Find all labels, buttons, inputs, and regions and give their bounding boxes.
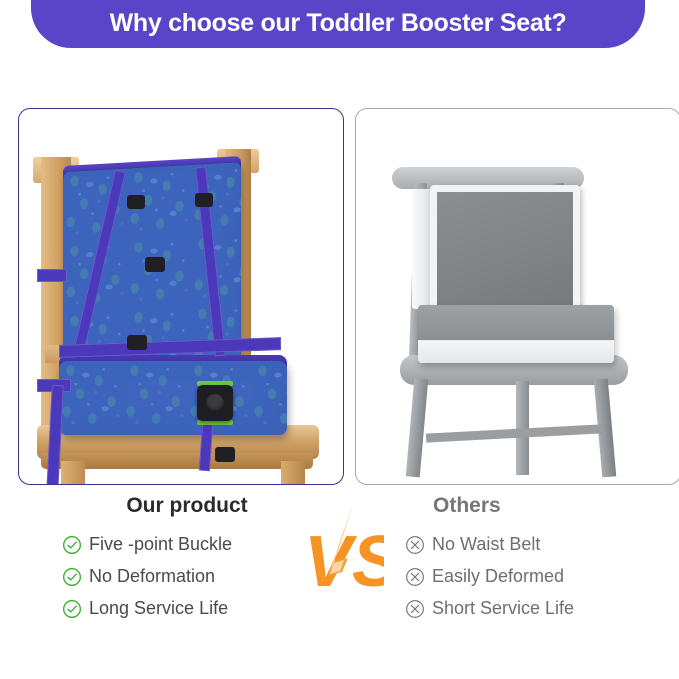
strap-adjuster-clip — [145, 257, 165, 272]
our-product-column: Our product Five -point Buckle No Deform… — [62, 494, 312, 630]
vs-lightning-icon: VS — [298, 498, 384, 628]
feature-row: Easily Deformed — [405, 566, 655, 587]
comparison-section: Our product Five -point Buckle No Deform… — [0, 494, 679, 654]
strap-adjuster-clip — [195, 193, 213, 207]
page-title: Why choose our Toddler Booster Seat? — [110, 0, 567, 38]
check-circle-icon — [62, 535, 82, 555]
gray-chair-stretcher — [426, 424, 602, 442]
chair-anchor-strap-upper — [37, 269, 67, 282]
feature-label: Five -point Buckle — [89, 534, 232, 555]
our-product-heading: Our product — [62, 494, 312, 518]
feature-row: Five -point Buckle — [62, 534, 312, 555]
feature-label: No Waist Belt — [432, 534, 540, 555]
our-product-photo — [18, 108, 344, 485]
lets-go-out-badge-pattern — [59, 361, 287, 435]
gray-booster-side-flap — [412, 189, 432, 309]
others-heading: Others — [405, 494, 655, 518]
x-circle-icon — [405, 567, 425, 587]
chair-front-left-leg — [61, 461, 85, 485]
feature-label: Long Service Life — [89, 598, 228, 619]
check-circle-icon — [62, 599, 82, 619]
gray-chair-leg-left — [406, 379, 428, 478]
versus-badge: VS — [298, 498, 384, 628]
x-circle-icon — [405, 599, 425, 619]
check-circle-icon — [62, 567, 82, 587]
booster-cushion — [59, 361, 287, 435]
product-photo-panels — [0, 108, 679, 486]
feature-label: No Deformation — [89, 566, 215, 587]
feature-row: No Waist Belt — [405, 534, 655, 555]
header-banner: Why choose our Toddler Booster Seat? — [31, 0, 645, 48]
feature-row: Long Service Life — [62, 598, 312, 619]
strap-adjuster-clip — [127, 195, 145, 209]
gray-booster-cushion — [418, 305, 614, 363]
strap-adjuster-clip — [127, 335, 147, 350]
others-product-scene — [356, 109, 679, 484]
others-product-photo — [355, 108, 679, 485]
feature-row: Short Service Life — [405, 598, 655, 619]
our-product-scene — [19, 109, 343, 484]
others-column: Others No Waist Belt Easily Deformed Sho… — [405, 494, 655, 630]
strap-adjuster-clip — [215, 447, 235, 462]
feature-label: Short Service Life — [432, 598, 574, 619]
feature-label: Easily Deformed — [432, 566, 564, 587]
chair-front-right-leg — [281, 461, 305, 485]
gray-booster-backrest — [430, 185, 580, 325]
x-circle-icon — [405, 535, 425, 555]
feature-row: No Deformation — [62, 566, 312, 587]
five-point-buckle — [197, 385, 233, 421]
